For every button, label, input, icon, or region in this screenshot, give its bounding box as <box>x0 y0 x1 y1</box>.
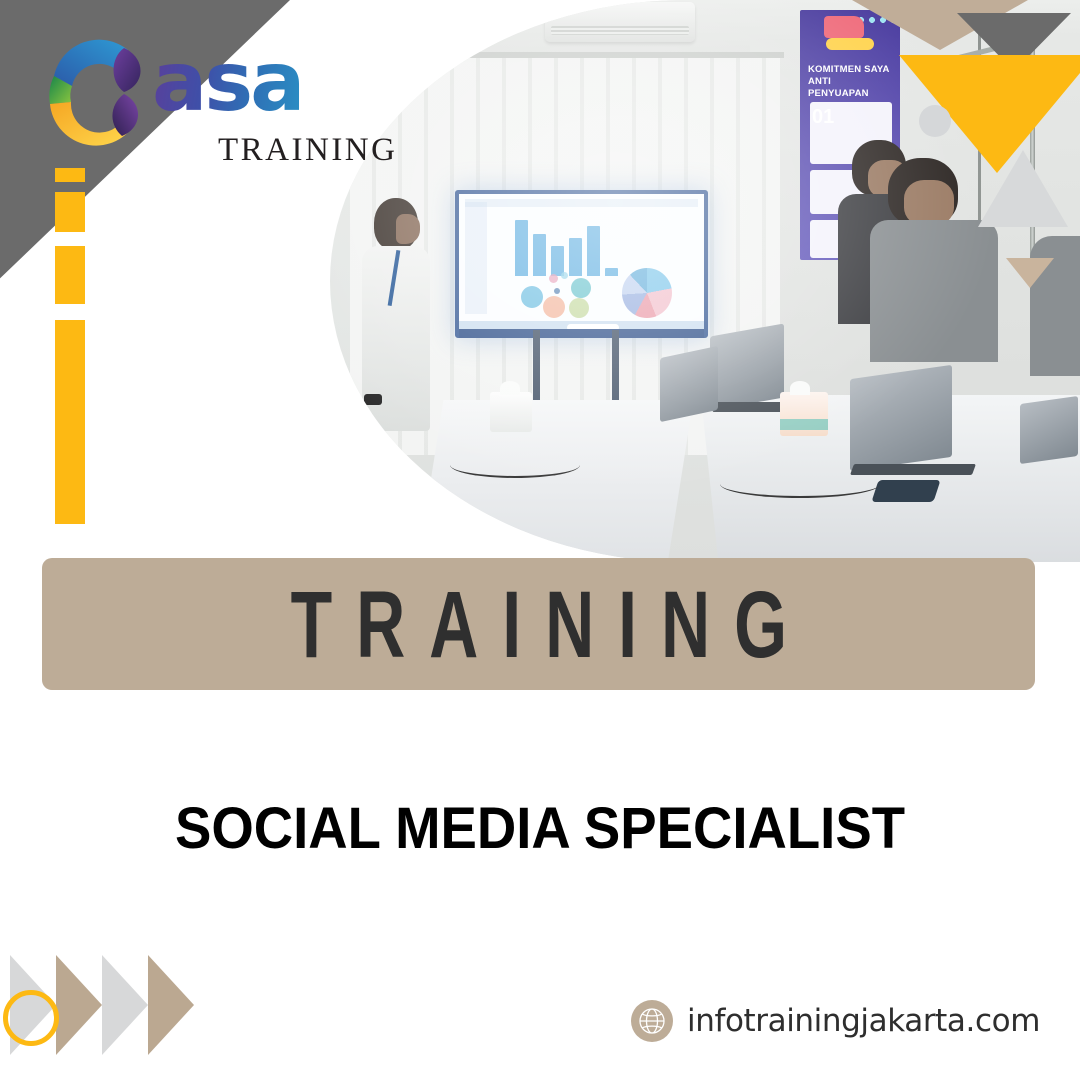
casa-circle-logo-icon <box>32 24 167 159</box>
brand-tagline: TRAINING <box>218 132 397 169</box>
chevron-4 <box>148 955 194 1055</box>
course-title: SOCIAL MEDIA SPECIALIST <box>32 795 1047 862</box>
grey-circle-icon <box>919 105 951 137</box>
brand-name: asa <box>152 46 302 120</box>
brand-logo[interactable]: asa TRAINING <box>32 16 362 176</box>
chevron-2 <box>56 955 102 1055</box>
dash-bar-2 <box>55 192 85 232</box>
yellow-ring-icon <box>3 990 59 1046</box>
website-footer[interactable]: infotrainingjakarta.com <box>631 1000 1040 1042</box>
chevron-3 <box>102 955 148 1055</box>
dash-bar-3 <box>55 246 85 304</box>
light-grey-triangle-icon <box>978 150 1068 227</box>
training-banner: TRAINING <box>42 558 1035 690</box>
dash-bar-4 <box>55 320 85 524</box>
poster-canvas: KOMITMEN SAYA ANTI PENYUAPAN 01 02 <box>0 0 1080 1080</box>
tan-triangle-small-icon <box>1006 258 1054 288</box>
globe-icon <box>631 1000 673 1042</box>
website-url[interactable]: infotrainingjakarta.com <box>687 1003 1040 1039</box>
training-heading: TRAINING <box>266 570 810 679</box>
